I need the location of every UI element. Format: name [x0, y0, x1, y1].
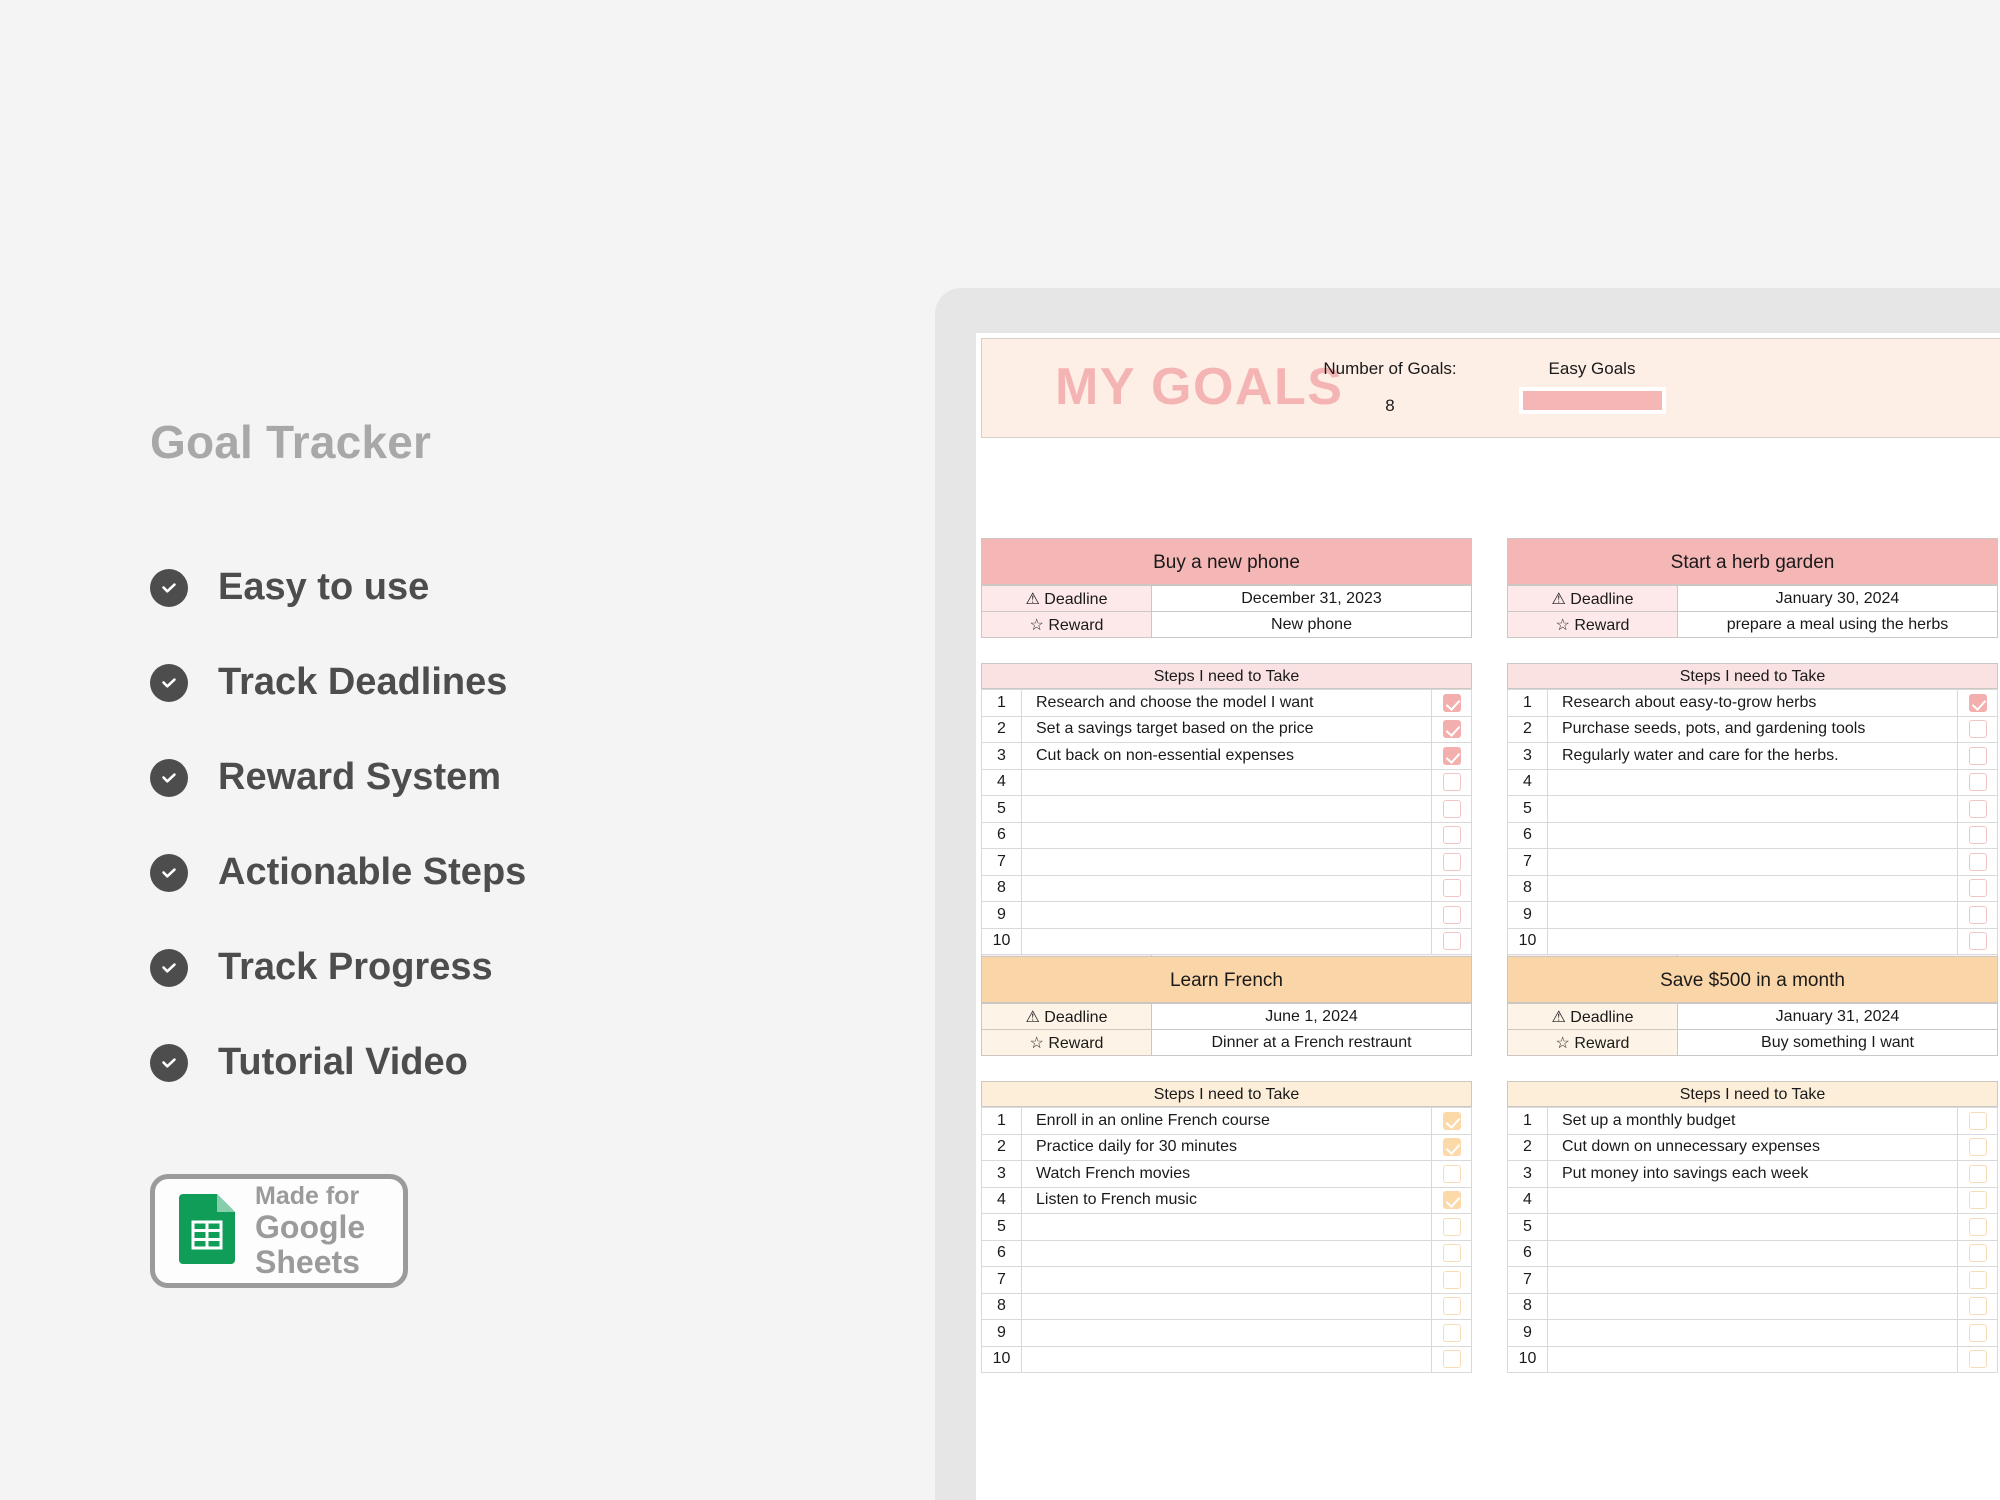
reward-row: ☆ RewardDinner at a French restraunt	[982, 1030, 1472, 1056]
step-checkbox-cell[interactable]	[1958, 822, 1998, 849]
step-checkbox-cell[interactable]	[1432, 1346, 1472, 1373]
step-number: 7	[1508, 1267, 1548, 1294]
goal-card: Start a herb garden⚠ DeadlineJanuary 30,…	[1507, 538, 1998, 982]
step-text: Listen to French music	[1022, 1187, 1432, 1214]
reward-value[interactable]: New phone	[1152, 612, 1472, 638]
step-row: 5	[1508, 1214, 1998, 1241]
check-circle-icon	[150, 664, 188, 702]
checkbox-unchecked-icon[interactable]	[1443, 1165, 1461, 1183]
step-checkbox-cell[interactable]	[1958, 875, 1998, 902]
steps-section: Steps I need to Take1Research and choose…	[981, 663, 1472, 982]
steps-header: Steps I need to Take	[1507, 663, 1998, 689]
tablet-screen: MY GOALS Number of Goals: 8 Easy Goals B…	[976, 333, 2000, 1500]
feature-label: Actionable Steps	[218, 851, 526, 894]
checkbox-unchecked-icon[interactable]	[1443, 932, 1461, 950]
feature-list: Easy to useTrack DeadlinesReward SystemA…	[150, 540, 710, 1110]
step-text: Set up a monthly budget	[1548, 1108, 1958, 1135]
steps-section: Steps I need to Take1Enroll in an online…	[981, 1081, 1472, 1373]
step-checkbox-cell[interactable]	[1958, 690, 1998, 717]
feature-label: Easy to use	[218, 566, 429, 609]
step-number: 8	[982, 1293, 1022, 1320]
checkbox-unchecked-icon[interactable]	[1969, 1165, 1987, 1183]
step-text	[1548, 822, 1958, 849]
step-text	[1548, 875, 1958, 902]
deadline-label: ⚠ Deadline	[1508, 586, 1678, 612]
checkbox-unchecked-icon[interactable]	[1969, 747, 1987, 765]
step-checkbox-cell[interactable]	[1958, 1320, 1998, 1347]
step-checkbox-cell[interactable]	[1432, 1187, 1472, 1214]
step-checkbox-cell[interactable]	[1432, 1134, 1472, 1161]
easy-goals-legend: Easy Goals	[1507, 359, 1677, 414]
reward-label: ☆ Reward	[1508, 1030, 1678, 1056]
step-checkbox-cell[interactable]	[1432, 902, 1472, 929]
step-number: 4	[982, 769, 1022, 796]
step-checkbox-cell[interactable]	[1958, 1214, 1998, 1241]
step-text	[1022, 849, 1432, 876]
checkbox-checked-icon[interactable]	[1443, 720, 1461, 738]
checkbox-checked-icon[interactable]	[1443, 694, 1461, 712]
checkbox-unchecked-icon[interactable]	[1969, 1191, 1987, 1209]
sheet-banner: MY GOALS Number of Goals: 8 Easy Goals	[981, 338, 2000, 438]
checkbox-unchecked-icon[interactable]	[1969, 1324, 1987, 1342]
step-checkbox-cell[interactable]	[1432, 822, 1472, 849]
step-row: 10	[1508, 1346, 1998, 1373]
step-row: 6	[1508, 1240, 1998, 1267]
checkbox-unchecked-icon[interactable]	[1969, 932, 1987, 950]
goal-title: Start a herb garden	[1507, 538, 1998, 585]
checkbox-unchecked-icon[interactable]	[1969, 1297, 1987, 1315]
steps-section: Steps I need to Take1Research about easy…	[1507, 663, 1998, 982]
step-checkbox-cell[interactable]	[1958, 1108, 1998, 1135]
step-number: 6	[982, 822, 1022, 849]
step-number: 2	[982, 1134, 1022, 1161]
deadline-row: ⚠ DeadlineDecember 31, 2023	[982, 586, 1472, 612]
step-checkbox-cell[interactable]	[1432, 690, 1472, 717]
reward-row: ☆ Rewardprepare a meal using the herbs	[1508, 612, 1998, 638]
step-number: 4	[1508, 1187, 1548, 1214]
page-root: Goal Tracker Easy to useTrack DeadlinesR…	[0, 0, 2000, 1500]
step-checkbox-cell[interactable]	[1958, 1187, 1998, 1214]
step-text	[1548, 928, 1958, 955]
step-number: 8	[982, 875, 1022, 902]
step-text	[1548, 769, 1958, 796]
step-number: 1	[982, 690, 1022, 717]
deadline-row: ⚠ DeadlineJanuary 31, 2024	[1508, 1004, 1998, 1030]
step-text: Cut back on non-essential expenses	[1022, 743, 1432, 770]
deadline-value[interactable]: December 31, 2023	[1152, 586, 1472, 612]
step-text: Research about easy-to-grow herbs	[1548, 690, 1958, 717]
step-number: 3	[1508, 743, 1548, 770]
step-row: 4	[1508, 1187, 1998, 1214]
step-number: 1	[982, 1108, 1022, 1135]
step-checkbox-cell[interactable]	[1958, 849, 1998, 876]
step-number: 2	[982, 716, 1022, 743]
step-number: 10	[1508, 928, 1548, 955]
reward-row: ☆ RewardNew phone	[982, 612, 1472, 638]
checkbox-unchecked-icon[interactable]	[1443, 1271, 1461, 1289]
step-row: 2Practice daily for 30 minutes	[982, 1134, 1472, 1161]
check-circle-icon	[150, 949, 188, 987]
steps-header: Steps I need to Take	[1507, 1081, 1998, 1107]
checkbox-checked-icon[interactable]	[1443, 1191, 1461, 1209]
checkbox-checked-icon[interactable]	[1443, 1112, 1461, 1130]
step-checkbox-cell[interactable]	[1432, 1267, 1472, 1294]
step-checkbox-cell[interactable]	[1958, 928, 1998, 955]
deadline-row: ⚠ DeadlineJune 1, 2024	[982, 1004, 1472, 1030]
deadline-label: ⚠ Deadline	[982, 1004, 1152, 1030]
step-text	[1548, 849, 1958, 876]
step-row: 8	[982, 875, 1472, 902]
step-text	[1548, 796, 1958, 823]
number-of-goals: Number of Goals: 8	[1295, 359, 1485, 416]
step-text	[1022, 1240, 1432, 1267]
badge-text: Made for Google Sheets	[255, 1183, 403, 1279]
step-text: Research and choose the model I want	[1022, 690, 1432, 717]
step-text	[1548, 902, 1958, 929]
step-number: 10	[1508, 1346, 1548, 1373]
step-row: 8	[1508, 875, 1998, 902]
step-text	[1548, 1267, 1958, 1294]
step-text	[1022, 769, 1432, 796]
deadline-value[interactable]: June 1, 2024	[1152, 1004, 1472, 1030]
step-text	[1022, 928, 1432, 955]
step-row: 1Research and choose the model I want	[982, 690, 1472, 717]
checkbox-unchecked-icon[interactable]	[1443, 1218, 1461, 1236]
step-text	[1022, 1214, 1432, 1241]
check-circle-icon	[150, 569, 188, 607]
checkbox-unchecked-icon[interactable]	[1969, 800, 1987, 818]
step-text	[1022, 902, 1432, 929]
step-text	[1548, 1187, 1958, 1214]
step-number: 2	[1508, 1134, 1548, 1161]
step-checkbox-cell[interactable]	[1958, 1240, 1998, 1267]
step-row: 2Cut down on unnecessary expenses	[1508, 1134, 1998, 1161]
step-text	[1548, 1293, 1958, 1320]
steps-section: Steps I need to Take1Set up a monthly bu…	[1507, 1081, 1998, 1373]
checkbox-unchecked-icon[interactable]	[1969, 1271, 1987, 1289]
checkbox-unchecked-icon[interactable]	[1969, 1138, 1987, 1156]
goal-card: Buy a new phone⚠ DeadlineDecember 31, 20…	[981, 538, 1472, 982]
goal-title: Learn French	[981, 956, 1472, 1003]
step-number: 1	[1508, 1108, 1548, 1135]
step-row: 4Listen to French music	[982, 1187, 1472, 1214]
step-number: 3	[982, 743, 1022, 770]
checkbox-unchecked-icon[interactable]	[1443, 826, 1461, 844]
step-text	[1022, 1267, 1432, 1294]
step-checkbox-cell[interactable]	[1432, 1108, 1472, 1135]
step-text: Enroll in an online French course	[1022, 1108, 1432, 1135]
step-row: 4	[982, 769, 1472, 796]
goal-meta-table: ⚠ DeadlineJune 1, 2024☆ RewardDinner at …	[981, 1003, 1472, 1056]
checkbox-unchecked-icon[interactable]	[1443, 1324, 1461, 1342]
easy-goals-color-swatch	[1519, 387, 1666, 414]
checkbox-unchecked-icon[interactable]	[1443, 879, 1461, 897]
step-row: 9	[982, 902, 1472, 929]
easy-goals-label: Easy Goals	[1507, 359, 1677, 379]
page-title: Goal Tracker	[150, 415, 431, 469]
step-checkbox-cell[interactable]	[1958, 1293, 1998, 1320]
checkbox-unchecked-icon[interactable]	[1443, 853, 1461, 871]
step-number: 6	[982, 1240, 1022, 1267]
step-row: 3Cut back on non-essential expenses	[982, 743, 1472, 770]
step-number: 6	[1508, 1240, 1548, 1267]
step-text	[1548, 1240, 1958, 1267]
steps-table: 1Enroll in an online French course2Pract…	[981, 1107, 1472, 1373]
step-checkbox-cell[interactable]	[1958, 743, 1998, 770]
step-checkbox-cell[interactable]	[1432, 1240, 1472, 1267]
step-checkbox-cell[interactable]	[1958, 796, 1998, 823]
step-row: 3Watch French movies	[982, 1161, 1472, 1188]
step-checkbox-cell[interactable]	[1432, 796, 1472, 823]
step-row: 9	[1508, 1320, 1998, 1347]
step-number: 5	[1508, 796, 1548, 823]
step-text	[1548, 1346, 1958, 1373]
step-number: 8	[1508, 875, 1548, 902]
check-circle-icon	[150, 759, 188, 797]
reward-label: ☆ Reward	[982, 1030, 1152, 1056]
step-text	[1022, 1346, 1432, 1373]
step-number: 9	[1508, 1320, 1548, 1347]
checkbox-unchecked-icon[interactable]	[1443, 906, 1461, 924]
steps-table: 1Research about easy-to-grow herbs2Purch…	[1507, 689, 1998, 955]
step-checkbox-cell[interactable]	[1958, 716, 1998, 743]
step-checkbox-cell[interactable]	[1432, 1161, 1472, 1188]
step-number: 10	[982, 928, 1022, 955]
step-checkbox-cell[interactable]	[1432, 928, 1472, 955]
step-checkbox-cell[interactable]	[1958, 902, 1998, 929]
step-text	[1022, 796, 1432, 823]
step-row: 3Put money into savings each week	[1508, 1161, 1998, 1188]
check-circle-icon	[150, 1044, 188, 1082]
reward-value[interactable]: Buy something I want	[1678, 1030, 1998, 1056]
step-text: Purchase seeds, pots, and gardening tool…	[1548, 716, 1958, 743]
step-checkbox-cell[interactable]	[1432, 875, 1472, 902]
step-row: 4	[1508, 769, 1998, 796]
feature-item: Easy to use	[150, 540, 710, 635]
step-number: 9	[982, 902, 1022, 929]
goal-meta-table: ⚠ DeadlineDecember 31, 2023☆ RewardNew p…	[981, 585, 1472, 638]
step-checkbox-cell[interactable]	[1958, 1134, 1998, 1161]
goal-title: Save $500 in a month	[1507, 956, 1998, 1003]
step-row: 7	[982, 849, 1472, 876]
step-number: 8	[1508, 1293, 1548, 1320]
number-of-goals-value: 8	[1295, 396, 1485, 416]
step-checkbox-cell[interactable]	[1432, 1293, 1472, 1320]
step-text	[1548, 1214, 1958, 1241]
badge-line-1: Made for	[255, 1183, 403, 1210]
step-text	[1022, 822, 1432, 849]
step-number: 1	[1508, 690, 1548, 717]
checkbox-unchecked-icon[interactable]	[1969, 1112, 1987, 1130]
reward-label: ☆ Reward	[1508, 612, 1678, 638]
feature-label: Track Progress	[218, 946, 493, 989]
step-row: 5	[982, 1214, 1472, 1241]
step-row: 7	[982, 1267, 1472, 1294]
badge-line-2: Google Sheets	[255, 1210, 403, 1279]
step-number: 7	[1508, 849, 1548, 876]
step-checkbox-cell[interactable]	[1432, 716, 1472, 743]
step-row: 7	[1508, 849, 1998, 876]
step-number: 7	[982, 1267, 1022, 1294]
step-row: 7	[1508, 1267, 1998, 1294]
step-row: 3Regularly water and care for the herbs.	[1508, 743, 1998, 770]
step-checkbox-cell[interactable]	[1958, 1267, 1998, 1294]
step-number: 9	[982, 1320, 1022, 1347]
checkbox-unchecked-icon[interactable]	[1969, 720, 1987, 738]
step-row: 6	[982, 1240, 1472, 1267]
number-of-goals-label: Number of Goals:	[1295, 359, 1485, 379]
goal-card: Save $500 in a month⚠ DeadlineJanuary 31…	[1507, 956, 1998, 1373]
step-number: 6	[1508, 822, 1548, 849]
checkbox-unchecked-icon[interactable]	[1443, 1297, 1461, 1315]
step-text: Cut down on unnecessary expenses	[1548, 1134, 1958, 1161]
deadline-label: ⚠ Deadline	[982, 586, 1152, 612]
feature-item: Track Progress	[150, 920, 710, 1015]
step-number: 7	[982, 849, 1022, 876]
reward-label: ☆ Reward	[982, 612, 1152, 638]
checkbox-unchecked-icon[interactable]	[1969, 879, 1987, 897]
step-row: 10	[982, 928, 1472, 955]
step-row: 10	[1508, 928, 1998, 955]
step-checkbox-cell[interactable]	[1432, 769, 1472, 796]
step-number: 4	[1508, 769, 1548, 796]
step-row: 9	[982, 1320, 1472, 1347]
reward-value[interactable]: Dinner at a French restraunt	[1152, 1030, 1472, 1056]
feature-label: Track Deadlines	[218, 661, 507, 704]
check-circle-icon	[150, 854, 188, 892]
step-checkbox-cell[interactable]	[1432, 1320, 1472, 1347]
checkbox-unchecked-icon[interactable]	[1969, 906, 1987, 924]
step-number: 5	[1508, 1214, 1548, 1241]
tablet-frame: MY GOALS Number of Goals: 8 Easy Goals B…	[935, 288, 2000, 1500]
step-row: 10	[982, 1346, 1472, 1373]
checkbox-checked-icon[interactable]	[1443, 747, 1461, 765]
made-for-google-sheets-badge: Made for Google Sheets	[150, 1174, 408, 1288]
steps-table: 1Research and choose the model I want2Se…	[981, 689, 1472, 955]
goal-title: Buy a new phone	[981, 538, 1472, 585]
step-checkbox-cell[interactable]	[1432, 743, 1472, 770]
step-number: 2	[1508, 716, 1548, 743]
checkbox-unchecked-icon[interactable]	[1969, 1350, 1987, 1368]
step-number: 3	[1508, 1161, 1548, 1188]
step-checkbox-cell[interactable]	[1432, 1214, 1472, 1241]
checkbox-checked-icon[interactable]	[1443, 1138, 1461, 1156]
step-checkbox-cell[interactable]	[1958, 769, 1998, 796]
google-sheets-icon	[179, 1194, 235, 1269]
checkbox-unchecked-icon[interactable]	[1443, 800, 1461, 818]
step-text	[1022, 1320, 1432, 1347]
step-text: Set a savings target based on the price	[1022, 716, 1432, 743]
step-row: 5	[982, 796, 1472, 823]
step-text: Watch French movies	[1022, 1161, 1432, 1188]
step-text	[1022, 875, 1432, 902]
deadline-value[interactable]: January 31, 2024	[1678, 1004, 1998, 1030]
steps-header: Steps I need to Take	[981, 1081, 1472, 1107]
step-checkbox-cell[interactable]	[1958, 1346, 1998, 1373]
feature-item: Track Deadlines	[150, 635, 710, 730]
step-row: 2Purchase seeds, pots, and gardening too…	[1508, 716, 1998, 743]
checkbox-unchecked-icon[interactable]	[1969, 773, 1987, 791]
step-text	[1022, 1293, 1432, 1320]
checkbox-unchecked-icon[interactable]	[1969, 1244, 1987, 1262]
step-text: Practice daily for 30 minutes	[1022, 1134, 1432, 1161]
steps-table: 1Set up a monthly budget2Cut down on unn…	[1507, 1107, 1998, 1373]
step-text	[1548, 1320, 1958, 1347]
deadline-label: ⚠ Deadline	[1508, 1004, 1678, 1030]
step-text: Put money into savings each week	[1548, 1161, 1958, 1188]
feature-item: Tutorial Video	[150, 1015, 710, 1110]
step-number: 9	[1508, 902, 1548, 929]
step-checkbox-cell[interactable]	[1958, 1161, 1998, 1188]
promo-panel: Goal Tracker Easy to useTrack DeadlinesR…	[0, 0, 760, 1500]
step-row: 6	[1508, 822, 1998, 849]
checkbox-unchecked-icon[interactable]	[1969, 853, 1987, 871]
step-row: 8	[982, 1293, 1472, 1320]
step-row: 2Set a savings target based on the price	[982, 716, 1472, 743]
feature-item: Actionable Steps	[150, 825, 710, 920]
step-number: 3	[982, 1161, 1022, 1188]
step-row: 5	[1508, 796, 1998, 823]
checkbox-unchecked-icon[interactable]	[1443, 1350, 1461, 1368]
goal-card: Learn French⚠ DeadlineJune 1, 2024☆ Rewa…	[981, 956, 1472, 1373]
step-row: 1Set up a monthly budget	[1508, 1108, 1998, 1135]
goal-meta-table: ⚠ DeadlineJanuary 31, 2024☆ RewardBuy so…	[1507, 1003, 1998, 1056]
spreadsheet: MY GOALS Number of Goals: 8 Easy Goals B…	[981, 338, 2000, 1500]
reward-row: ☆ RewardBuy something I want	[1508, 1030, 1998, 1056]
step-number: 5	[982, 1214, 1022, 1241]
step-number: 10	[982, 1346, 1022, 1373]
checkbox-unchecked-icon[interactable]	[1969, 1218, 1987, 1236]
reward-value[interactable]: prepare a meal using the herbs	[1678, 612, 1998, 638]
steps-header: Steps I need to Take	[981, 663, 1472, 689]
step-row: 6	[982, 822, 1472, 849]
step-text: Regularly water and care for the herbs.	[1548, 743, 1958, 770]
deadline-row: ⚠ DeadlineJanuary 30, 2024	[1508, 586, 1998, 612]
step-checkbox-cell[interactable]	[1432, 849, 1472, 876]
checkbox-unchecked-icon[interactable]	[1969, 826, 1987, 844]
step-row: 8	[1508, 1293, 1998, 1320]
checkbox-checked-icon[interactable]	[1969, 694, 1987, 712]
checkbox-unchecked-icon[interactable]	[1443, 1244, 1461, 1262]
feature-label: Reward System	[218, 756, 501, 799]
step-number: 5	[982, 796, 1022, 823]
goal-meta-table: ⚠ DeadlineJanuary 30, 2024☆ Rewardprepar…	[1507, 585, 1998, 638]
feature-item: Reward System	[150, 730, 710, 825]
deadline-value[interactable]: January 30, 2024	[1678, 586, 1998, 612]
step-row: 9	[1508, 902, 1998, 929]
step-row: 1Enroll in an online French course	[982, 1108, 1472, 1135]
checkbox-unchecked-icon[interactable]	[1443, 773, 1461, 791]
feature-label: Tutorial Video	[218, 1041, 468, 1084]
step-row: 1Research about easy-to-grow herbs	[1508, 690, 1998, 717]
step-number: 4	[982, 1187, 1022, 1214]
